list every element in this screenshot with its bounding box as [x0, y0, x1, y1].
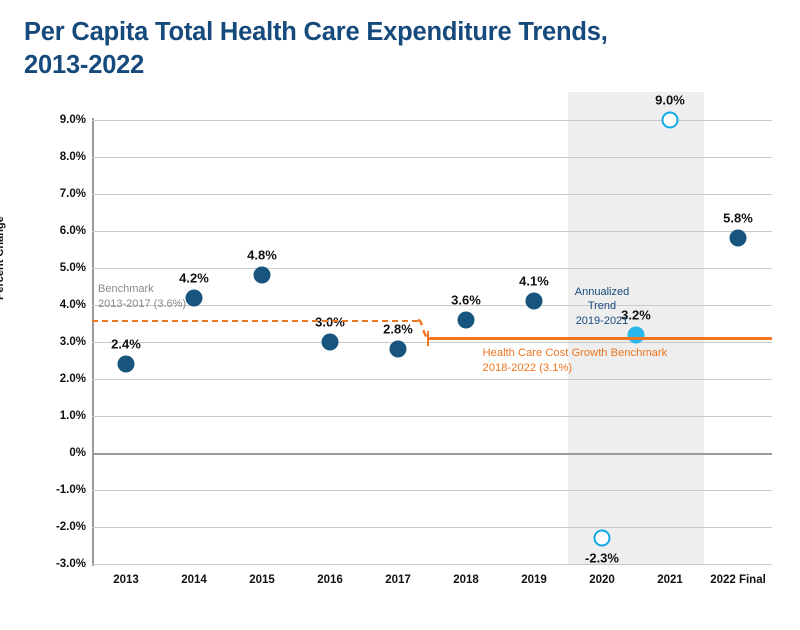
gridline	[92, 527, 772, 528]
y-axis-tick-label: 4.0%	[0, 299, 86, 311]
data-point-2016[interactable]	[322, 334, 339, 351]
data-label-2019: 4.1%	[519, 274, 549, 289]
y-axis-tick-label: -3.0%	[0, 558, 86, 570]
y-axis-tick-label: 9.0%	[0, 114, 86, 126]
data-point-2015[interactable]	[254, 267, 271, 284]
x-axis-tick-label: 2013	[113, 574, 139, 586]
data-label-2017: 2.8%	[383, 322, 413, 337]
data-label-2013: 2.4%	[111, 337, 141, 352]
gridline	[92, 157, 772, 158]
gridline	[92, 379, 772, 380]
data-point-2019[interactable]	[526, 293, 543, 310]
gridline	[92, 416, 772, 417]
chart-root: Per Capita Total Health Care Expenditure…	[0, 0, 800, 630]
y-axis-tick-label: 5.0%	[0, 262, 86, 274]
y-axis-tick-label: 0%	[0, 447, 86, 459]
plot-area: 2.4%4.2%4.8%3.0%2.8%3.6%4.1%-2.3%9.0%5.8…	[92, 120, 772, 564]
x-axis-tick-label: 2016	[317, 574, 343, 586]
benchmark-solid-line-2018-2022	[427, 337, 772, 340]
y-axis-tick-label: 3.0%	[0, 336, 86, 348]
benchmark-2018-2022-note: Health Care Cost Growth Benchmark 2018-2…	[483, 346, 668, 376]
data-point-2022-final[interactable]	[730, 230, 747, 247]
annualized-trend-note: Annualized Trend 2019-2021	[575, 285, 629, 330]
data-label-2018: 3.6%	[451, 292, 481, 307]
data-point-2017[interactable]	[390, 341, 407, 358]
data-point-2020.5[interactable]	[628, 326, 645, 343]
data-label-2016: 3.0%	[315, 315, 345, 330]
y-axis-tick-label: 1.0%	[0, 410, 86, 422]
y-axis-tick-label: -1.0%	[0, 484, 86, 496]
data-label-2022-final: 5.8%	[723, 211, 753, 226]
benchmark-dashed-line-2013-2017	[92, 320, 418, 322]
gridline	[92, 194, 772, 195]
data-point-2021[interactable]	[662, 112, 679, 129]
x-axis-tick-label: 2021	[657, 574, 683, 586]
x-axis-tick-label: 2022 Final	[710, 574, 766, 586]
gridline	[92, 490, 772, 491]
data-point-2013[interactable]	[118, 356, 135, 373]
y-axis-tick-label: 8.0%	[0, 151, 86, 163]
data-label-2021: 9.0%	[655, 93, 685, 108]
x-axis-tick-label: 2015	[249, 574, 275, 586]
x-axis-tick-label: 2014	[181, 574, 207, 586]
y-axis-tick-label: 2.0%	[0, 373, 86, 385]
x-axis-tick-label: 2017	[385, 574, 411, 586]
y-axis-tick-label: -2.0%	[0, 521, 86, 533]
benchmark-2013-2017-note: Benchmark 2013-2017 (3.6%)	[98, 282, 186, 312]
x-axis-tick-label: 2018	[453, 574, 479, 586]
data-point-2014[interactable]	[186, 289, 203, 306]
data-label-2015: 4.8%	[247, 248, 277, 263]
gridline	[92, 342, 772, 343]
gridline	[92, 564, 772, 565]
x-axis-tick-label: 2020	[589, 574, 615, 586]
data-point-2018[interactable]	[458, 311, 475, 328]
chart-title: Per Capita Total Health Care Expenditure…	[24, 16, 744, 81]
gridline	[92, 453, 772, 455]
data-label-2020: -2.3%	[585, 551, 619, 566]
gridline	[92, 268, 772, 269]
y-axis-tick-label: 7.0%	[0, 188, 86, 200]
data-point-2020[interactable]	[594, 530, 611, 547]
x-axis-tick-label: 2019	[521, 574, 547, 586]
gridline	[92, 231, 772, 232]
y-axis-tick-label: 6.0%	[0, 225, 86, 237]
